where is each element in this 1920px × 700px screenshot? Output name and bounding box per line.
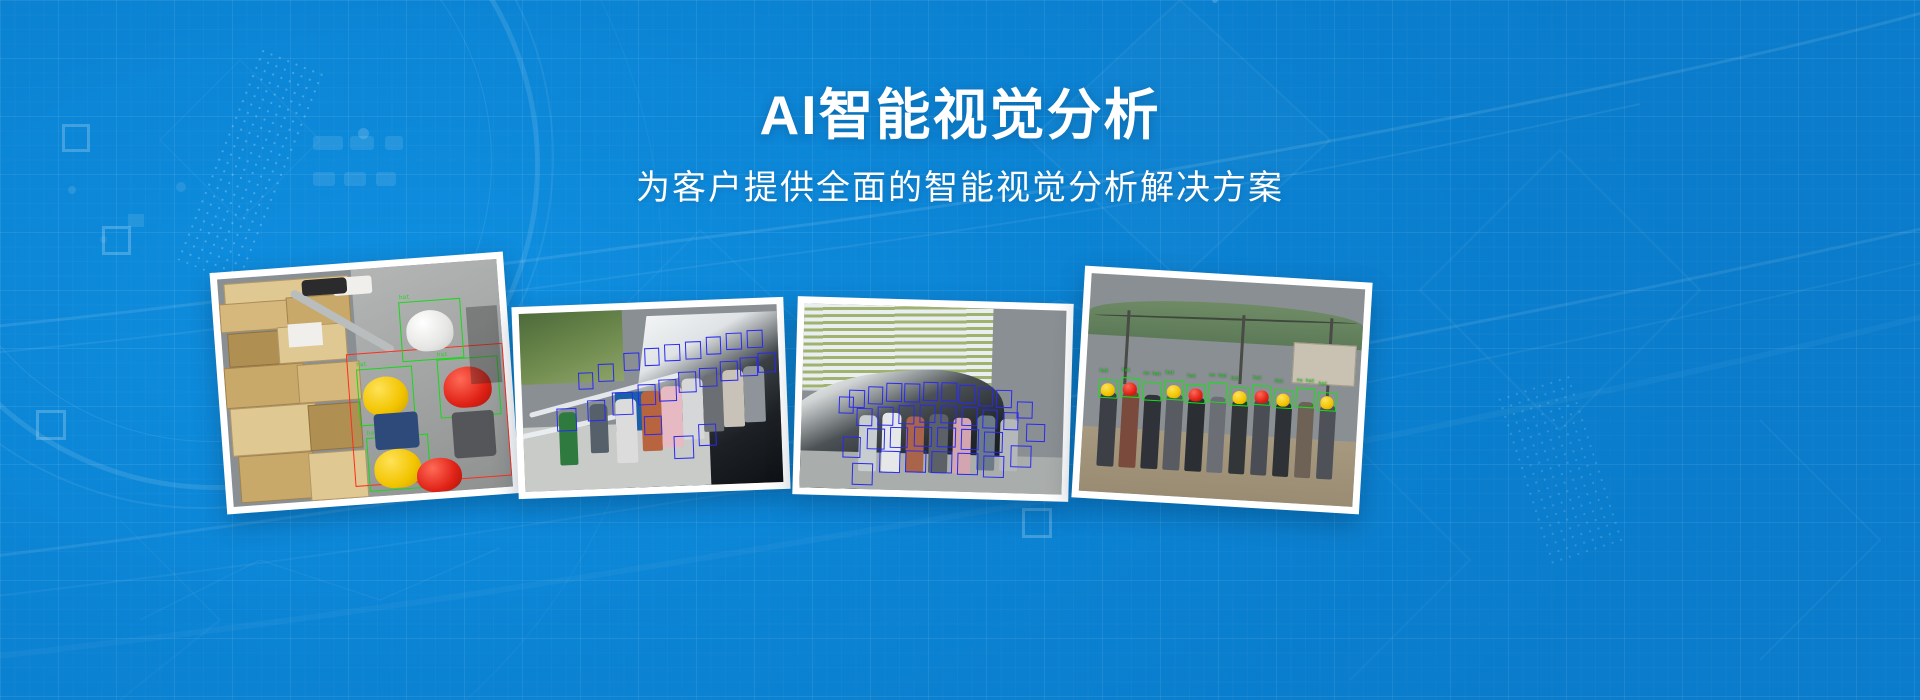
- photo2-face-box: [699, 367, 718, 387]
- photo4-detection-box: [1295, 388, 1315, 409]
- photo3-head-box: [898, 405, 914, 424]
- photo4-helmet: [1320, 396, 1334, 410]
- photo4-detection-label: hat: [1318, 380, 1327, 387]
- decor-dot-4: [100, 236, 107, 243]
- photo3-head-box: [1026, 424, 1045, 443]
- photo3-head-box: [982, 410, 998, 429]
- photo1-box: [229, 403, 318, 457]
- photo2-face-box: [578, 372, 594, 390]
- photo4-detection-label: hat: [1165, 369, 1174, 376]
- photo3-head-box: [905, 450, 927, 473]
- photo3-head-box: [913, 426, 932, 447]
- photo1-detection-tag: hat: [356, 361, 367, 369]
- photo2-face-box: [658, 379, 677, 401]
- photo2-face-box: [612, 392, 633, 416]
- page-subtitle: 为客户提供全面的智能视觉分析解决方案: [0, 169, 1920, 208]
- photo-footbridge-faces: [519, 304, 784, 492]
- photo3-head-box: [977, 387, 993, 406]
- decor-chip-1: [128, 214, 144, 227]
- photo2-face-box: [644, 415, 663, 435]
- photo3-head-box: [867, 386, 883, 405]
- photo1-dark-object: [301, 277, 347, 296]
- page-title: AI智能视觉分析: [0, 86, 1920, 145]
- photo1-detection-tag: hat: [437, 351, 448, 359]
- photo1-detection-tag: hat: [399, 294, 410, 302]
- photo1-worker-torso: [451, 410, 496, 459]
- photo4-detection-label: hat: [1275, 378, 1284, 385]
- photo1-box: [224, 362, 307, 409]
- photo3-head-box: [1016, 401, 1032, 418]
- photo2-face-box: [726, 332, 742, 350]
- photo4-helmet: [1101, 383, 1115, 397]
- photo2-face-box: [598, 364, 614, 382]
- photo3-head-box: [937, 427, 956, 448]
- photo3-head-box: [879, 451, 901, 474]
- photo-warehouse-hardhat: hat hat hat hat: [217, 259, 513, 507]
- photo3-head-box: [904, 383, 920, 402]
- photo4-detection-box: [1208, 383, 1228, 404]
- photo3-head-box: [1010, 445, 1032, 468]
- photo2-face-box: [740, 356, 759, 376]
- photo1-worker-torso: [373, 411, 420, 451]
- photo2-face-box: [698, 424, 717, 446]
- photo-station-crowd: [799, 303, 1066, 494]
- photo4-detection-box: [1142, 381, 1162, 402]
- photo4-helmet: [1254, 390, 1268, 404]
- photo2-face-box: [758, 352, 777, 372]
- photo-outdoor-hardhat: hat hat no hat hat hat no hat hat: [1079, 273, 1365, 507]
- photo2-face-box: [644, 348, 660, 366]
- photo1-paper: [288, 322, 323, 347]
- photo3-head-box: [984, 432, 1003, 453]
- photo4-detection-label: hat: [1121, 367, 1130, 374]
- photo3-head-box: [890, 427, 909, 448]
- photo4-detection-label: hat: [1099, 367, 1108, 374]
- photo3-head-box: [866, 428, 885, 449]
- photo4-detection-label: hat: [1253, 374, 1262, 381]
- photo3-head-box: [983, 456, 1005, 479]
- photo3-head-box: [852, 463, 874, 486]
- ai-vision-banner: AI智能视觉分析 为客户提供全面的智能视觉分析解决方案: [0, 0, 1920, 700]
- photo3-head-box: [856, 408, 872, 427]
- photo4-detection-label: no hat: [1143, 370, 1161, 377]
- gallery-card-station[interactable]: [792, 296, 1073, 502]
- photo2-face-box: [623, 352, 639, 370]
- photo2-face-box: [638, 384, 657, 406]
- photo2-face-box: [746, 330, 762, 348]
- photo2-face-box: [673, 436, 694, 460]
- gallery-card-warehouse[interactable]: hat hat hat hat: [210, 252, 521, 515]
- photo2-face-box: [719, 361, 738, 381]
- gallery-card-footbridge[interactable]: [511, 297, 790, 499]
- photo2-face-box: [556, 408, 577, 432]
- photo3-head-box: [960, 429, 979, 450]
- photo3-head-box: [919, 404, 935, 423]
- photo3-head-box: [959, 385, 975, 404]
- photo4-helmet: [1167, 385, 1181, 399]
- photo1-cables: [466, 305, 502, 385]
- photo2-face-box: [664, 343, 680, 361]
- photo3-head-box: [940, 405, 956, 424]
- photo2-face-box: [587, 400, 606, 422]
- photo3-head-box: [886, 383, 902, 402]
- photo1-box: [238, 451, 316, 504]
- photo3-head-box: [842, 437, 861, 458]
- photo3-head-box: [996, 390, 1012, 409]
- photo4-detection-label: hat: [1231, 375, 1240, 382]
- photo3-head-box: [877, 407, 893, 426]
- photo3-head-box: [957, 453, 979, 476]
- photo4-detection-label: no hat: [1209, 372, 1227, 379]
- photo3-head-box: [961, 407, 977, 426]
- photo3-head-box: [931, 450, 953, 473]
- photo3-head-box: [838, 396, 854, 413]
- photo2-face-box: [685, 341, 701, 359]
- photo2-face-box: [705, 337, 721, 355]
- photo3-head-box: [941, 383, 957, 402]
- photo4-detection-label: no hat: [1297, 377, 1315, 384]
- gallery-card-outdoor-group[interactable]: hat hat no hat hat hat no hat hat: [1071, 266, 1372, 515]
- decor-square-outline-2: [102, 226, 131, 255]
- photo2-face-box: [678, 371, 697, 393]
- banner-text-block: AI智能视觉分析 为客户提供全面的智能视觉分析解决方案: [0, 86, 1920, 208]
- photo-gallery: hat hat hat hat: [0, 258, 1920, 528]
- photo3-head-box: [922, 382, 938, 401]
- photo4-detection-label: hat: [1187, 373, 1196, 380]
- photo4-helmet: [1123, 382, 1137, 396]
- photo4-helmet: [1232, 391, 1246, 405]
- photo4-helmet: [1188, 388, 1202, 402]
